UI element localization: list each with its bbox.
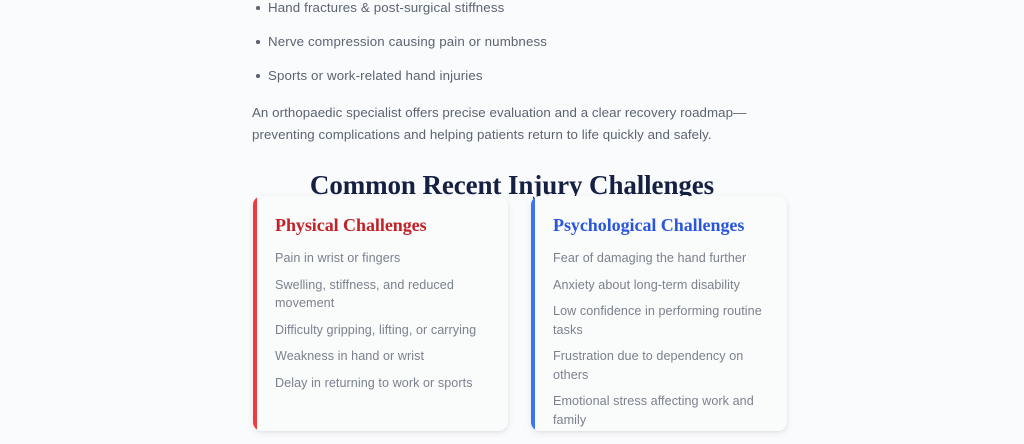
intro-section: Hand fractures & post-surgical stiffness… — [252, 0, 772, 146]
card-title-physical: Physical Challenges — [275, 213, 486, 237]
list-item: Low confidence in performing routine tas… — [553, 302, 765, 339]
accent-bar-red — [253, 196, 257, 431]
list-item: Weakness in hand or wrist — [275, 347, 486, 366]
card-psychological-challenges: Psychological Challenges Fear of damagin… — [531, 196, 787, 431]
list-item: Hand fractures & post-surgical stiffness — [252, 0, 772, 20]
physical-challenge-list: Pain in wrist or fingers Swelling, stiff… — [275, 249, 486, 392]
card-title-psychological: Psychological Challenges — [553, 213, 765, 237]
intro-paragraph: An orthopaedic specialist offers precise… — [252, 102, 757, 146]
condition-bullet-list: Hand fractures & post-surgical stiffness… — [252, 0, 772, 88]
list-item: Anxiety about long-term disability — [553, 276, 765, 295]
list-item: Delay in returning to work or sports — [275, 374, 486, 393]
list-item: Nerve compression causing pain or numbne… — [252, 30, 772, 54]
list-item: Difficulty gripping, lifting, or carryin… — [275, 321, 486, 340]
list-item: Frustration due to dependency on others — [553, 347, 765, 384]
card-physical-challenges: Physical Challenges Pain in wrist or fin… — [253, 196, 508, 431]
psychological-challenge-list: Fear of damaging the hand further Anxiet… — [553, 249, 765, 429]
list-item: Fear of damaging the hand further — [553, 249, 765, 268]
list-item: Sports or work-related hand injuries — [252, 64, 772, 88]
accent-bar-blue — [531, 196, 535, 431]
challenges-card-group: Physical Challenges Pain in wrist or fin… — [253, 196, 787, 431]
page-root: Hand fractures & post-surgical stiffness… — [0, 0, 1024, 444]
list-item: Emotional stress affecting work and fami… — [553, 392, 765, 429]
list-item: Pain in wrist or fingers — [275, 249, 486, 268]
list-item: Swelling, stiffness, and reduced movemen… — [275, 276, 486, 313]
